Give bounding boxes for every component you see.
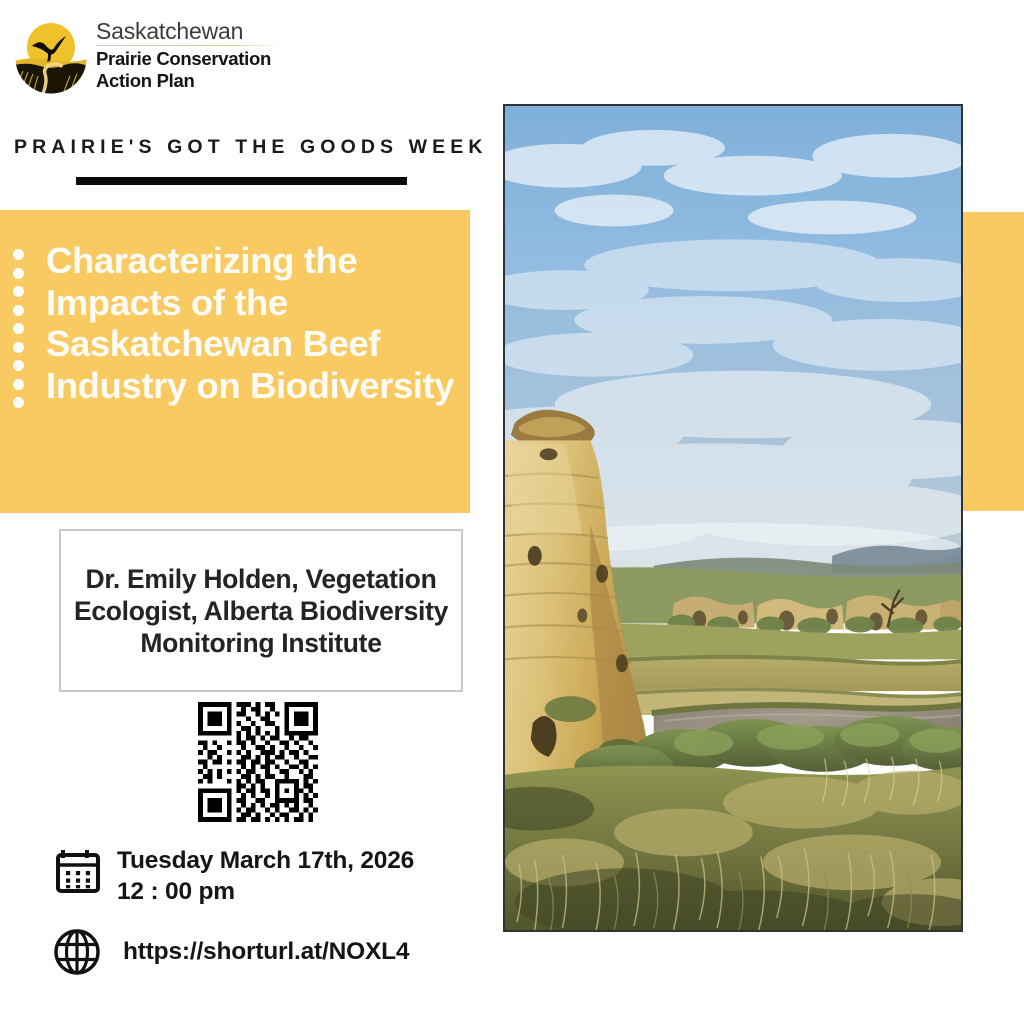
- decorative-dot: [13, 397, 24, 408]
- prairie-landscape-photo: [503, 104, 963, 932]
- qr-code-icon[interactable]: [186, 702, 330, 822]
- title-band-right: [963, 212, 1024, 511]
- event-datetime-row: Tuesday March 17th, 2026 12 : 00 pm: [55, 845, 414, 907]
- logo-wordmark: Saskatchewan Prairie Conservation Action…: [96, 18, 304, 92]
- decorative-dot-column: [13, 249, 24, 408]
- decorative-dot: [13, 268, 24, 279]
- event-datetime-text: Tuesday March 17th, 2026 12 : 00 pm: [117, 845, 414, 907]
- organization-logo: Saskatchewan Prairie Conservation Action…: [14, 18, 304, 100]
- event-url-row[interactable]: https://shorturl.at/NOXL4: [53, 928, 409, 976]
- event-date: Tuesday March 17th, 2026: [117, 845, 414, 876]
- prairie-sun-bird-logo-icon: [14, 20, 88, 96]
- org-subtitle-line1: Prairie Conservation: [96, 48, 304, 70]
- event-time: 12 : 00 pm: [117, 876, 414, 907]
- event-series-kicker: PRAIRIE'S GOT THE GOODS WEEK: [14, 136, 488, 159]
- decorative-dot: [13, 379, 24, 390]
- speaker-name-and-affiliation: Dr. Emily Holden, Vegetation Ecologist, …: [61, 563, 461, 659]
- event-url-text[interactable]: https://shorturl.at/NOXL4: [123, 938, 409, 966]
- logo-divider: [96, 45, 282, 46]
- decorative-dot: [13, 305, 24, 316]
- page-title: Characterizing the Impacts of the Saskat…: [46, 240, 466, 406]
- speaker-info-box: Dr. Emily Holden, Vegetation Ecologist, …: [59, 529, 463, 692]
- decorative-dot: [13, 249, 24, 260]
- globe-icon: [53, 928, 101, 976]
- org-subtitle-line2: Action Plan: [96, 70, 304, 92]
- decorative-dot: [13, 360, 24, 371]
- decorative-dot: [13, 342, 24, 353]
- kicker-underline-rule: [76, 177, 407, 185]
- decorative-dot: [13, 323, 24, 334]
- calendar-icon: [55, 848, 101, 894]
- decorative-dot: [13, 286, 24, 297]
- webinar-poster: Saskatchewan Prairie Conservation Action…: [0, 0, 1024, 1024]
- org-name: Saskatchewan: [96, 18, 304, 44]
